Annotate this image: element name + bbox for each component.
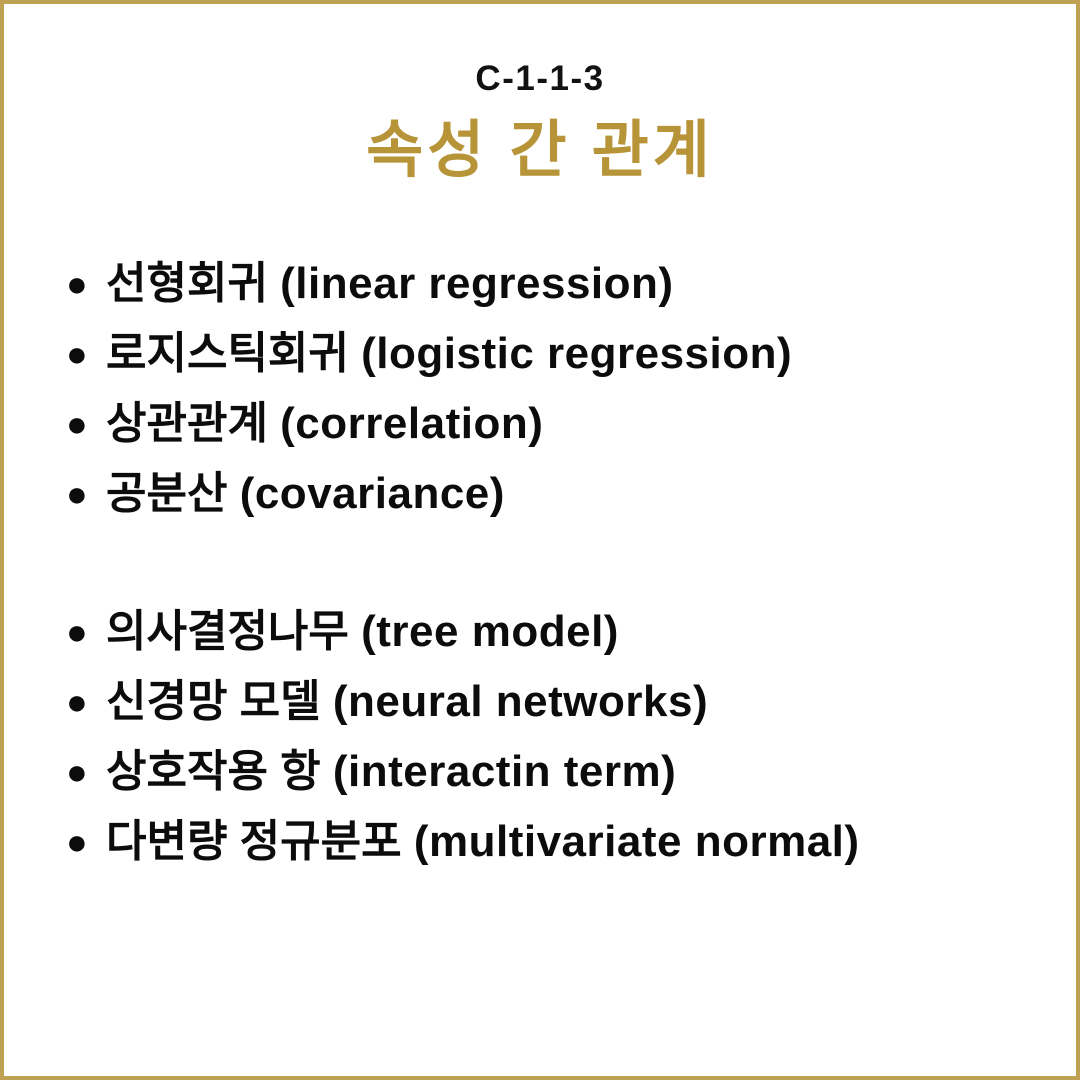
list-item-text: 다변량 정규분포 (multivariate normal) [106, 820, 860, 864]
slide-code-label: C-1-1-3 [4, 61, 1076, 96]
list-item-korean: 로지스틱회귀 [106, 329, 349, 378]
list-item-text: 상호작용 항 (interactin term) [106, 750, 676, 794]
list-item-english: (neural networks) [333, 677, 708, 726]
list-item-english: (linear regression) [280, 259, 673, 308]
list-item-korean: 신경망 모델 [106, 677, 321, 726]
bullet-group-model-based-relationships: ● 의사결정나무 (tree model) ● 신경망 모델 (neural n… [66, 610, 1036, 890]
list-item-korean: 상호작용 항 [106, 747, 321, 796]
list-item: ● 상호작용 항 (interactin term) [66, 750, 1036, 820]
list-item: ● 의사결정나무 (tree model) [66, 610, 1036, 680]
bullet-dot-icon: ● [66, 614, 106, 650]
list-item: ● 신경망 모델 (neural networks) [66, 680, 1036, 750]
list-item-english: (correlation) [280, 399, 543, 448]
list-item-english: (multivariate normal) [414, 817, 860, 866]
bullet-dot-icon: ● [66, 476, 106, 512]
list-item: ● 공분산 (covariance) [66, 472, 1036, 542]
list-item-text: 공분산 (covariance) [106, 472, 505, 516]
bullet-dot-icon: ● [66, 266, 106, 302]
list-item-korean: 상관관계 [106, 399, 268, 448]
list-item-english: (covariance) [240, 469, 505, 518]
list-item-korean: 의사결정나무 [106, 607, 349, 656]
list-item-text: 로지스틱회귀 (logistic regression) [106, 332, 792, 376]
list-item-english: (logistic regression) [361, 329, 792, 378]
bullet-dot-icon: ● [66, 684, 106, 720]
list-item-text: 의사결정나무 (tree model) [106, 610, 619, 654]
list-item: ● 다변량 정규분포 (multivariate normal) [66, 820, 1036, 890]
bullet-dot-icon: ● [66, 754, 106, 790]
list-item: ● 상관관계 (correlation) [66, 402, 1036, 472]
bullet-dot-icon: ● [66, 336, 106, 372]
list-item: ● 선형회귀 (linear regression) [66, 262, 1036, 332]
slide-header: C-1-1-3 속성 간 관계 [4, 4, 1076, 183]
bullet-dot-icon: ● [66, 824, 106, 860]
list-item-english: (tree model) [361, 607, 619, 656]
list-item-text: 상관관계 (correlation) [106, 402, 543, 446]
list-item-text: 선형회귀 (linear regression) [106, 262, 674, 306]
bullet-group-statistical-relationships: ● 선형회귀 (linear regression) ● 로지스틱회귀 (log… [66, 262, 1036, 542]
list-item: ● 로지스틱회귀 (logistic regression) [66, 332, 1036, 402]
list-item-korean: 선형회귀 [106, 259, 268, 308]
bullet-body: ● 선형회귀 (linear regression) ● 로지스틱회귀 (log… [66, 262, 1036, 890]
slide-container: C-1-1-3 속성 간 관계 ● 선형회귀 (linear regressio… [0, 0, 1080, 1080]
list-item-korean: 다변량 정규분포 [106, 817, 402, 866]
list-item-english: (interactin term) [333, 747, 676, 796]
bullet-dot-icon: ● [66, 406, 106, 442]
list-item-text: 신경망 모델 (neural networks) [106, 680, 708, 724]
page-title: 속성 간 관계 [4, 118, 1076, 183]
list-item-korean: 공분산 [106, 469, 227, 518]
